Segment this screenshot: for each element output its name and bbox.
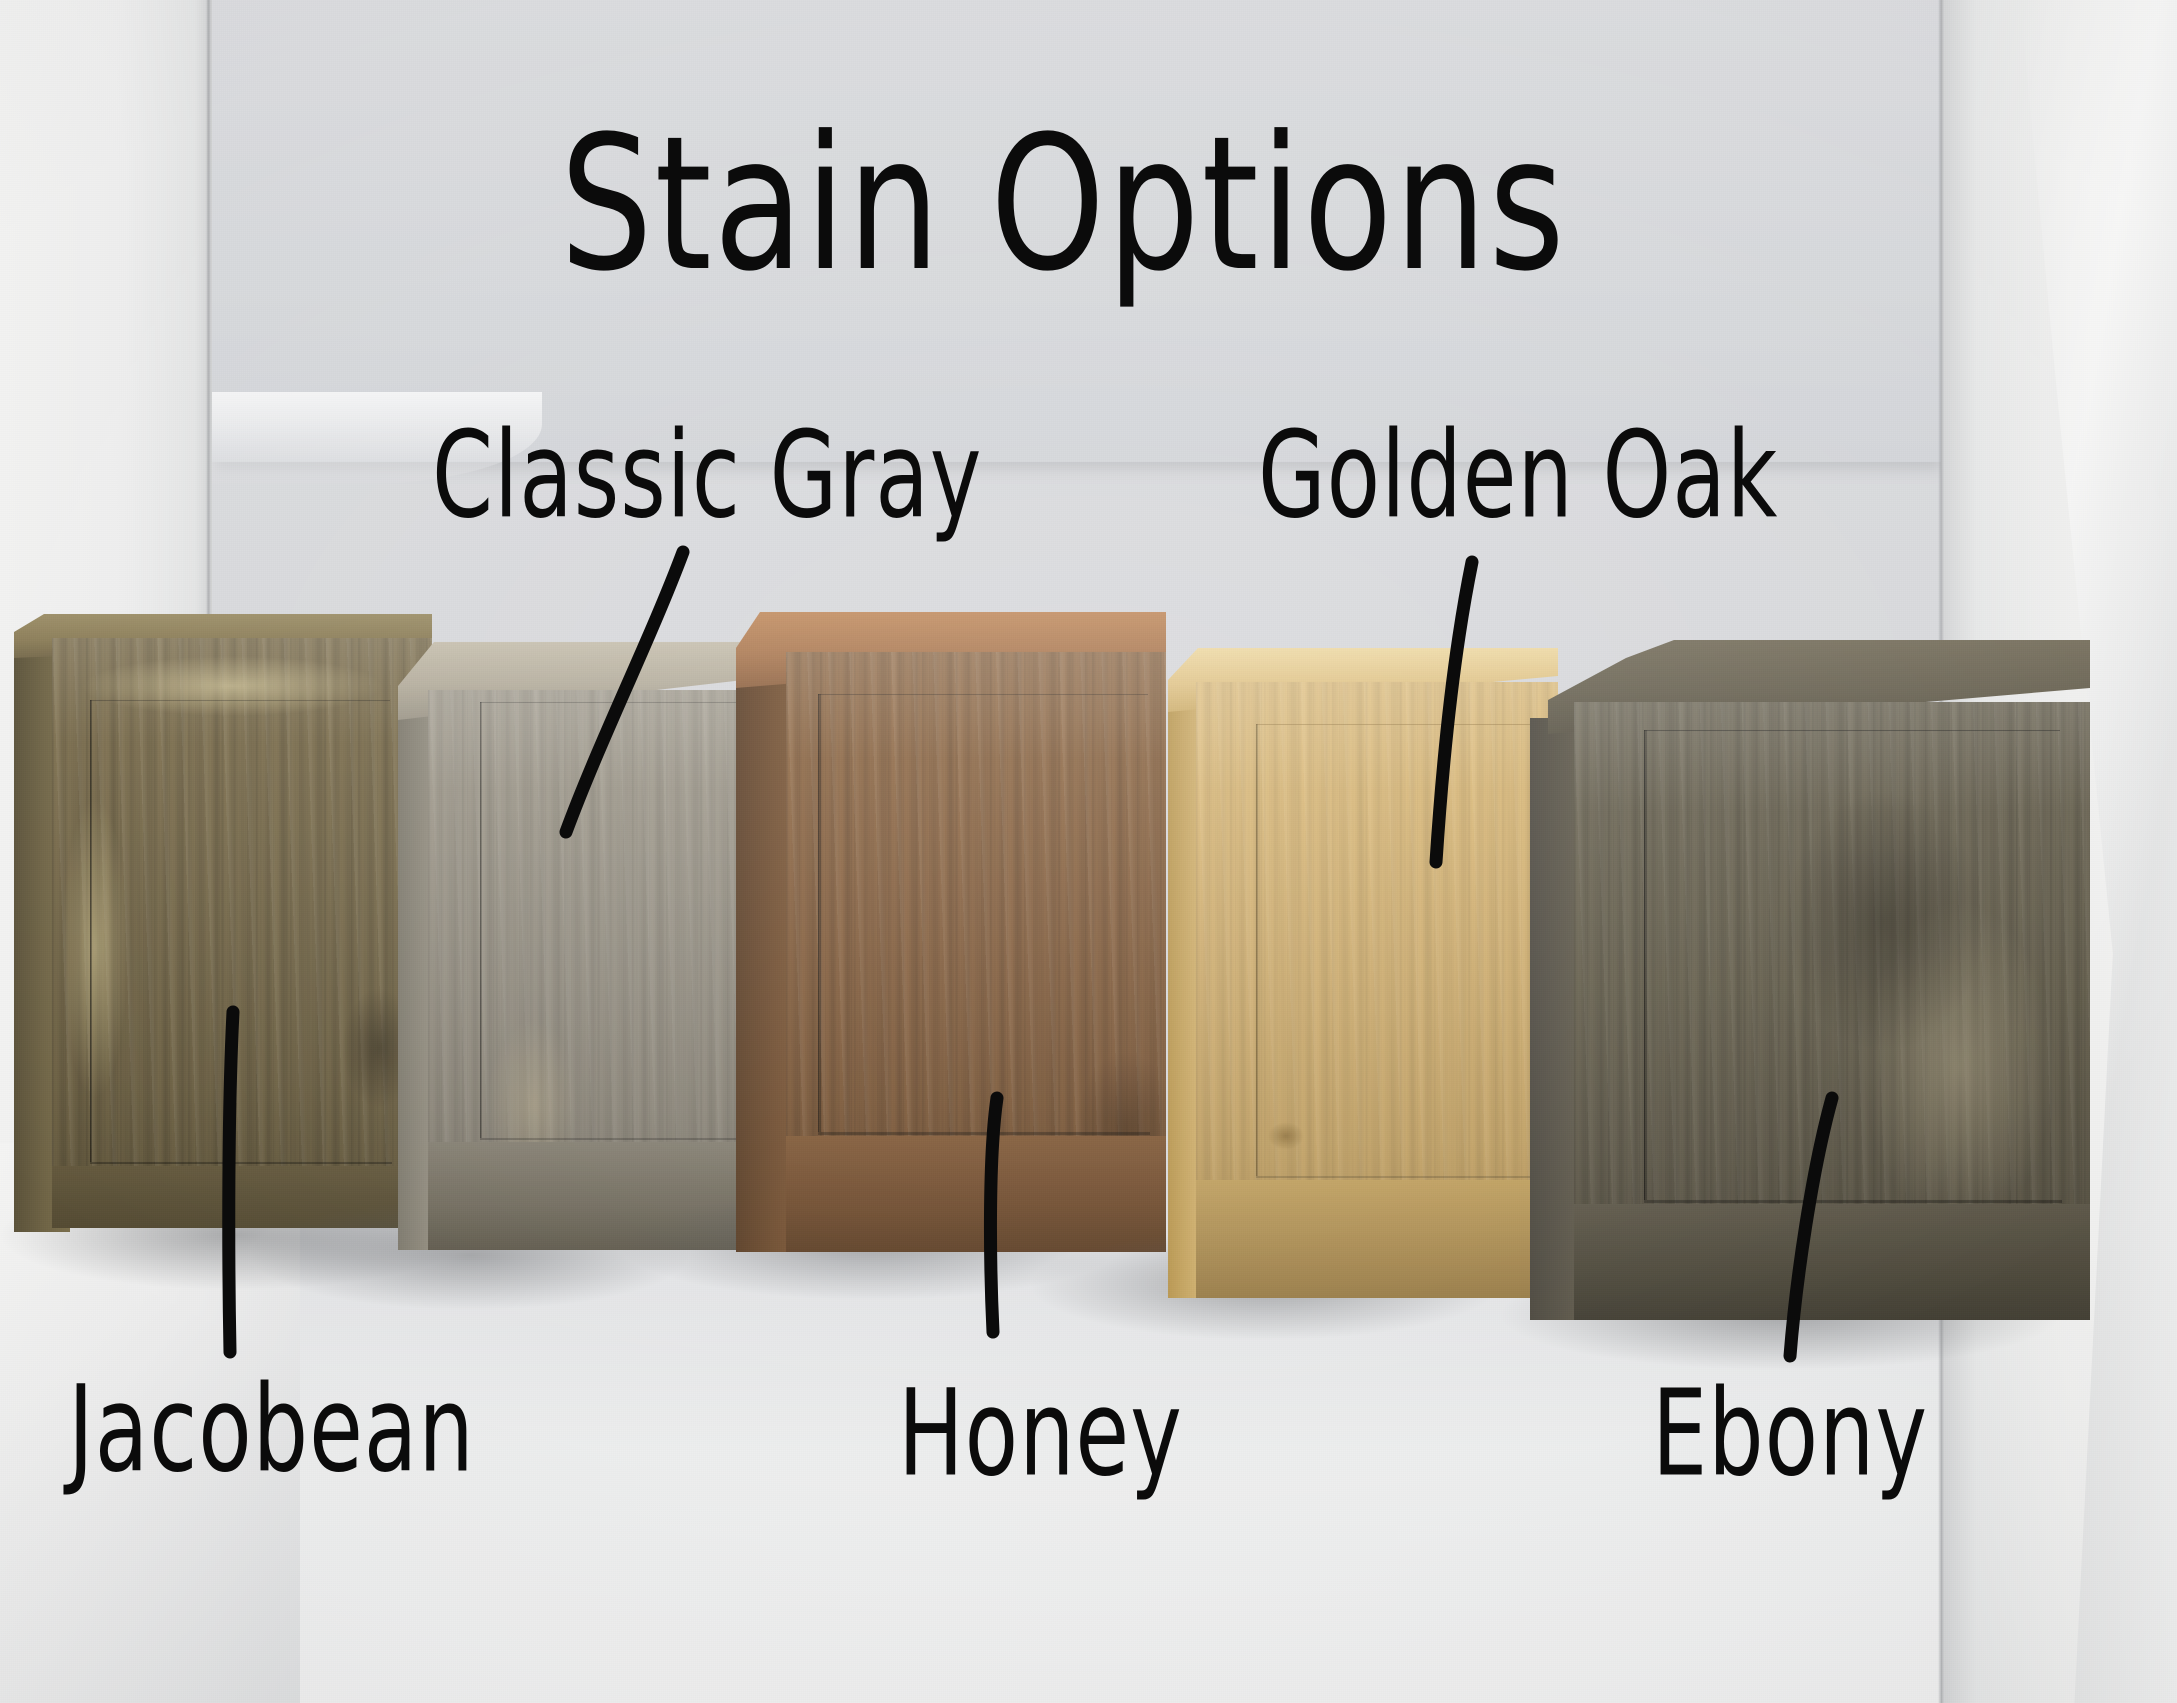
classic-gray-board xyxy=(428,690,778,1250)
stain-label-honey: Honey xyxy=(898,1364,1183,1503)
golden-oak-board xyxy=(1196,682,1558,1298)
honey-shading xyxy=(786,652,1166,1252)
classic-gray-shading xyxy=(428,690,778,1250)
stain-label-jacobean: Jacobean xyxy=(68,1360,475,1499)
ebony-board xyxy=(1574,702,2090,1320)
sample-honey xyxy=(736,612,1166,1252)
sample-classic-gray xyxy=(398,642,778,1250)
photo-canvas: Stain Options Classic Gray Golden Oak Ja… xyxy=(0,0,2177,1703)
jacobean-board xyxy=(52,638,432,1228)
jacobean-shading xyxy=(52,638,432,1228)
sample-ebony xyxy=(1530,640,2090,1320)
sample-golden-oak xyxy=(1168,648,1558,1298)
page-title: Stain Options xyxy=(560,96,1567,312)
sample-jacobean xyxy=(14,614,432,1232)
ebony-shading xyxy=(1574,702,2090,1320)
stain-label-classic-gray: Classic Gray xyxy=(432,406,982,545)
stain-label-ebony: Ebony xyxy=(1652,1364,1928,1503)
honey-board xyxy=(786,652,1166,1252)
golden-oak-shading xyxy=(1196,682,1558,1298)
stain-label-golden-oak: Golden Oak xyxy=(1258,406,1778,545)
